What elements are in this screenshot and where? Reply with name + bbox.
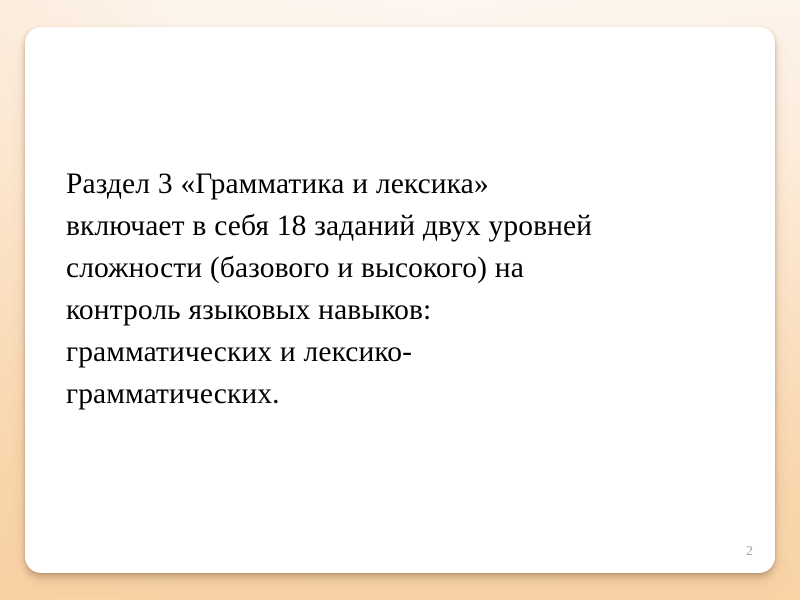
slide-canvas: Раздел 3 «Грамматика и лексика» включает… — [0, 0, 800, 600]
slide-content-card: Раздел 3 «Грамматика и лексика» включает… — [25, 27, 775, 573]
body-paragraph-1: Раздел 3 «Грамматика и лексика» включает… — [66, 163, 726, 415]
paragraph-spacer — [66, 499, 726, 541]
slide-number: 2 — [746, 544, 753, 560]
slide-body-text: Раздел 3 «Грамматика и лексика» включает… — [66, 79, 726, 573]
